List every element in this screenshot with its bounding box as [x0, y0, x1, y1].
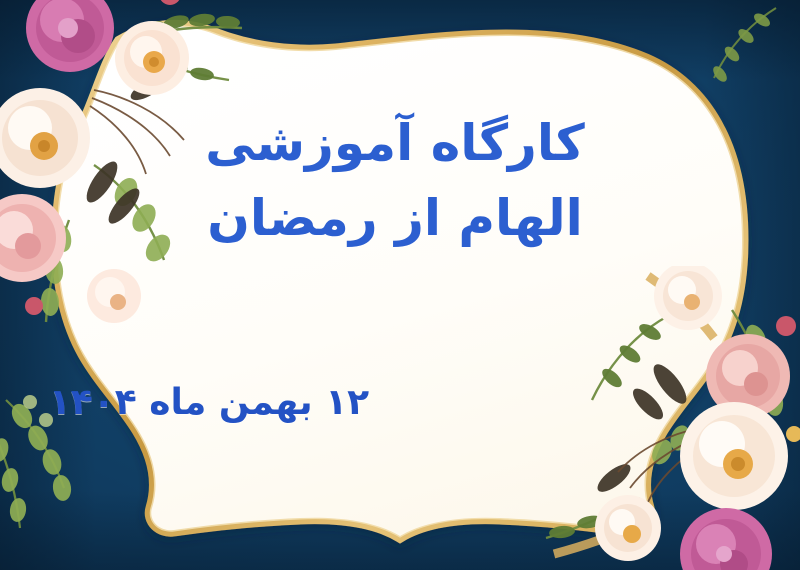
poster-canvas: کارگاه آموزشی الهام از رمضان ۱۲ بهمن ماه… — [0, 0, 800, 570]
frame-interior — [58, 26, 742, 536]
ornate-frame — [0, 0, 800, 570]
